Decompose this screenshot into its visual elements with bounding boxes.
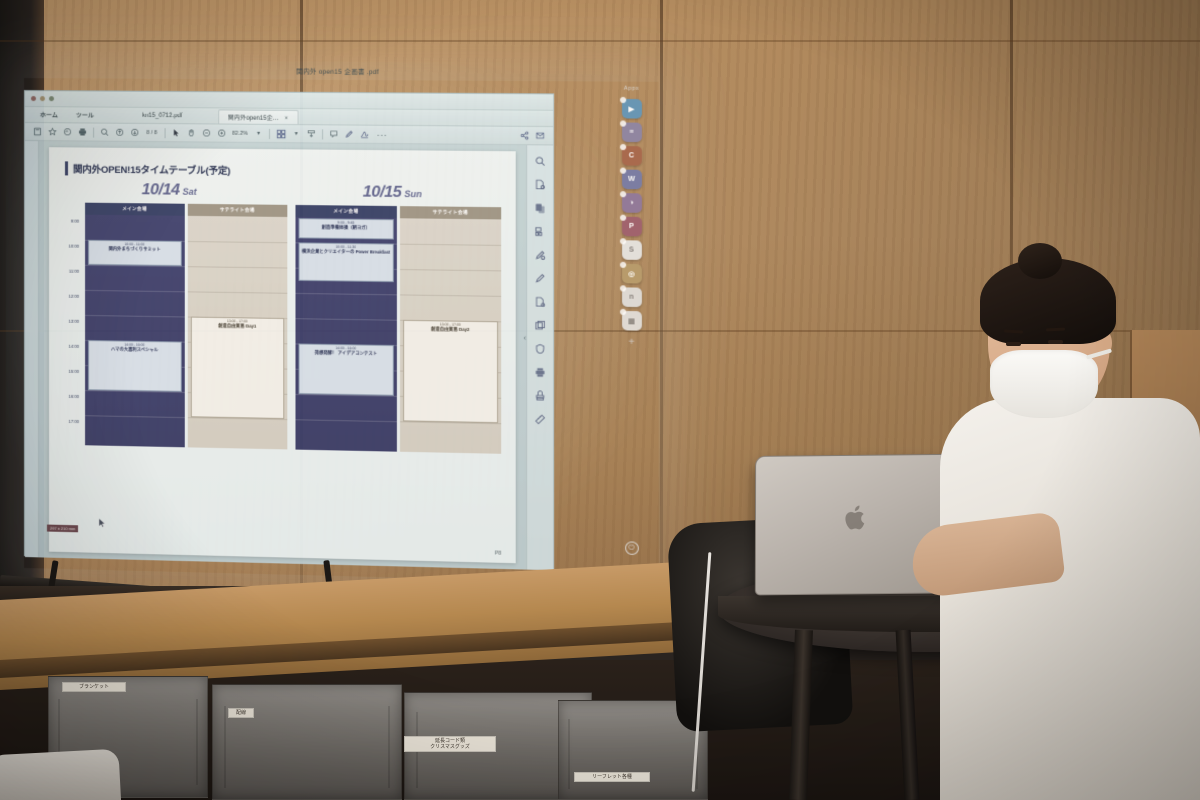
pdf-page: 関内外OPEN!15タイムテーブル(予定) 10/14Sat 10/15Sun	[49, 147, 516, 563]
time-tick: 13:00	[69, 319, 80, 324]
venue-body: 10:00 - 11:00 関内外まちづくりサミット 14:00 - 16:00…	[85, 215, 184, 448]
zoom-out-icon[interactable]	[199, 126, 214, 140]
fill-sign-icon[interactable]	[533, 271, 548, 285]
add-app-button[interactable]: +	[628, 337, 634, 348]
document-area: 関内外OPEN!15タイムテーブル(予定) 10/14Sat 10/15Sun	[25, 141, 553, 570]
highlight-pen-icon[interactable]	[342, 127, 357, 141]
toolbar-divider	[93, 127, 94, 137]
time-tick: 10:00	[69, 244, 80, 249]
time-tick: 9:00	[71, 219, 79, 224]
stamp-icon[interactable]	[533, 388, 548, 403]
event-name: 創造自由貿易 Day2	[405, 326, 496, 333]
star-icon[interactable]	[45, 125, 60, 139]
venue-header: メイン会場	[295, 205, 396, 218]
organize-pages-icon[interactable]	[533, 224, 548, 238]
tab-tools[interactable]: ツール	[67, 108, 103, 121]
cursor-arrow-icon[interactable]	[168, 126, 183, 140]
crate-label-blanket: ブランケット	[62, 682, 126, 692]
person-eye	[1048, 340, 1063, 344]
crate-label-leaflets: リーフレット各種	[574, 772, 650, 782]
crate-label-xmas-goods: 延長コード類 クリスマスグッズ	[404, 736, 496, 752]
comment-icon[interactable]	[326, 127, 341, 141]
page-thumbnail-icon[interactable]	[273, 126, 288, 140]
face-mask	[990, 350, 1098, 418]
acrobat-window: ホーム ツール kn15_0712.pdf 関内外open15企… ×	[24, 90, 554, 569]
venue-header: メイン会場	[85, 203, 184, 216]
search-panel-icon[interactable]	[533, 153, 548, 167]
search-icon[interactable]	[97, 125, 112, 139]
right-tool-panel[interactable]	[526, 145, 553, 570]
page-label: P8	[495, 550, 501, 556]
event-name: 横浜企業とクリエイターの Power Breakfast	[301, 249, 392, 256]
venue-body: 9:00 - 9:45 創造準備体操（朝ヨガ） 10:00 - 11:30 横浜…	[295, 217, 396, 452]
slide-title: 関内外OPEN!15タイムテーブル(予定)	[65, 161, 505, 179]
previous-page-icon[interactable]	[112, 125, 127, 139]
storage-crate	[212, 684, 402, 800]
wall-panel-edge	[0, 40, 1200, 42]
time-tick: 11:00	[69, 269, 79, 274]
zoom-level[interactable]: 82.2%	[229, 130, 251, 136]
measure-icon[interactable]	[533, 412, 548, 427]
save-icon[interactable]	[30, 125, 45, 139]
event-block[interactable]: 10:00 - 11:00 関内外まちづくりサミット	[88, 240, 181, 266]
foreground-chair	[0, 749, 121, 800]
event-name: 関内外まちづくりサミット	[90, 246, 179, 253]
event-block[interactable]: 10:00 - 11:30 横浜企業とクリエイターの Power Breakfa…	[299, 242, 394, 282]
panel-collapse-icon[interactable]: ‹	[524, 335, 526, 342]
venue-body: 13:00 - 17:00 創造自由貿易 Day1	[187, 216, 287, 450]
combine-files-icon[interactable]	[533, 318, 548, 333]
chevron-down-icon[interactable]: ▾	[289, 127, 304, 141]
toolbar-divider	[322, 129, 323, 139]
timetable-grid: 9:00 10:00 11:00 12:00 13:00 14:00 15:00…	[59, 202, 505, 454]
create-pdf-icon[interactable]	[533, 200, 548, 214]
event-block[interactable]: 13:00 - 17:00 創造自由貿易 Day2	[403, 320, 499, 423]
calendar-app-icon[interactable]: ▦	[622, 311, 642, 331]
email-icon[interactable]	[532, 128, 548, 142]
page-indicator[interactable]: 8 / 8	[142, 129, 161, 135]
maximize-icon[interactable]	[49, 96, 54, 101]
date-number: 10/15	[363, 183, 402, 201]
apps-dock[interactable]: Apps ▶ ≡ C W ◑ P S ◎ n ▦ + ⏻	[608, 81, 654, 563]
power-button[interactable]: ⏻	[625, 541, 639, 555]
media-app-icon[interactable]: ◑	[622, 193, 642, 213]
mouse-cursor-icon	[97, 517, 107, 531]
tab-home[interactable]: ホーム	[31, 108, 67, 121]
time-tick: 12:00	[69, 294, 80, 299]
day-block-sunday: メイン会場 9:00 - 9:45 創造準備体操（朝ヨガ）	[291, 205, 505, 454]
venue-header: サテライト会場	[187, 204, 287, 217]
hand-icon[interactable]	[183, 126, 198, 140]
word-app-icon[interactable]: W	[622, 170, 642, 190]
minimize-icon[interactable]	[40, 96, 45, 101]
time-axis: 9:00 10:00 11:00 12:00 13:00 14:00 15:00…	[59, 202, 81, 445]
protect-icon[interactable]	[533, 341, 548, 356]
left-navigation-rail[interactable]	[25, 141, 39, 557]
date-col-saturday: 10/14Sat	[59, 180, 280, 200]
date-weekday: Sun	[404, 189, 422, 199]
person-torso	[940, 398, 1200, 800]
print-production-icon[interactable]	[533, 365, 548, 380]
toolbar-overflow-icon[interactable]: ···	[373, 129, 392, 139]
tab-file-open15[interactable]: 関内外open15企… ×	[218, 109, 299, 124]
tab-file-kn15[interactable]: kn15_0712.pdf	[133, 110, 191, 120]
video-app-icon[interactable]: ▶	[622, 99, 642, 119]
event-name: 創造自由貿易 Day1	[192, 323, 282, 330]
tab-close-icon[interactable]: ×	[285, 115, 289, 121]
event-block[interactable]: 9:00 - 9:45 創造準備体操（朝ヨガ）	[299, 218, 394, 239]
event-block[interactable]: 14:00 - 16:00 発想発酵！ アイデアコンテスト	[299, 343, 394, 395]
event-name: 発想発酵！ アイデアコンテスト	[301, 350, 392, 357]
crate-label-cables: 配線	[228, 708, 254, 718]
date-header-row: 10/14Sat 10/15Sun	[59, 180, 505, 203]
notes-app-icon[interactable]: n	[622, 287, 642, 307]
export-pdf-icon[interactable]	[533, 177, 548, 191]
event-block[interactable]: 13:00 - 17:00 創造自由貿易 Day1	[190, 317, 284, 419]
next-page-icon[interactable]	[127, 125, 142, 139]
venue-main-sun: メイン会場 9:00 - 9:45 創造準備体操（朝ヨガ）	[295, 205, 396, 452]
zoom-in-icon[interactable]	[214, 126, 229, 140]
signature-icon[interactable]	[357, 127, 372, 141]
toolbar-divider	[164, 128, 165, 138]
venue-satellite-sun: サテライト会場 13:00 - 17:00 創造自由貿易 Day	[399, 206, 501, 454]
apple-logo-icon	[844, 504, 868, 532]
draft-app-icon[interactable]: S	[622, 240, 642, 260]
browser-app-icon[interactable]: ◎	[622, 264, 642, 284]
cloud-icon[interactable]	[60, 125, 75, 139]
window-controls[interactable]	[31, 96, 54, 101]
event-name: ハマの大喜利スペシャル	[90, 346, 179, 353]
time-tick: 17:00	[69, 419, 80, 424]
wall-seam	[660, 0, 663, 590]
event-block[interactable]: 14:00 - 16:00 ハマの大喜利スペシャル	[88, 340, 181, 392]
page-size-badge: 297 x 210 mm	[47, 525, 78, 533]
date-number: 10/14	[142, 181, 180, 198]
venue-header: サテライト会場	[399, 206, 501, 219]
venue-satellite-sat: サテライト会場 13:00 - 17:00 創造自由貿易 Day	[187, 204, 287, 450]
share-icon[interactable]	[517, 128, 533, 142]
slack-app-icon[interactable]: ≡	[622, 123, 642, 143]
date-col-sunday: 10/15Sun	[280, 183, 505, 204]
projected-screen: 関内外 open15 企画書 .pdf ホーム ツール kn15_0712.pd…	[24, 78, 659, 584]
edit-pdf-icon[interactable]	[533, 247, 548, 261]
day-block-saturday: メイン会場 10:00 - 11:00 関内外まちづくりサミット	[81, 203, 291, 450]
time-tick: 16:00	[69, 394, 80, 399]
venue-body: 13:00 - 17:00 創造自由貿易 Day2	[399, 218, 501, 454]
person-hair-bun	[1018, 243, 1062, 279]
time-tick: 15:00	[69, 369, 80, 374]
creative-cloud-icon[interactable]: C	[622, 146, 642, 166]
document-scroll-area[interactable]: 関内外OPEN!15タイムテーブル(予定) 10/14Sat 10/15Sun	[39, 141, 526, 569]
dock-label: Apps	[624, 86, 639, 92]
toolbar-divider	[269, 128, 270, 138]
person-eye	[1006, 342, 1021, 346]
presentation-app-icon[interactable]: P	[622, 217, 642, 237]
tab-label: 関内外open15企…	[228, 115, 279, 121]
fit-page-icon[interactable]	[304, 127, 319, 141]
event-name: 創造準備体操（朝ヨガ）	[301, 224, 392, 230]
room-scene: 関内外 open15 企画書 .pdf ホーム ツール kn15_0712.pd…	[0, 0, 1200, 800]
print-icon[interactable]	[75, 125, 90, 139]
comment-panel-icon[interactable]	[533, 294, 548, 309]
date-weekday: Sat	[183, 187, 197, 197]
close-icon[interactable]	[31, 96, 36, 101]
venue-main-sat: メイン会場 10:00 - 11:00 関内外まちづくりサミット	[85, 203, 184, 448]
time-tick: 14:00	[69, 344, 80, 349]
chevron-down-icon[interactable]: ▾	[251, 126, 266, 140]
